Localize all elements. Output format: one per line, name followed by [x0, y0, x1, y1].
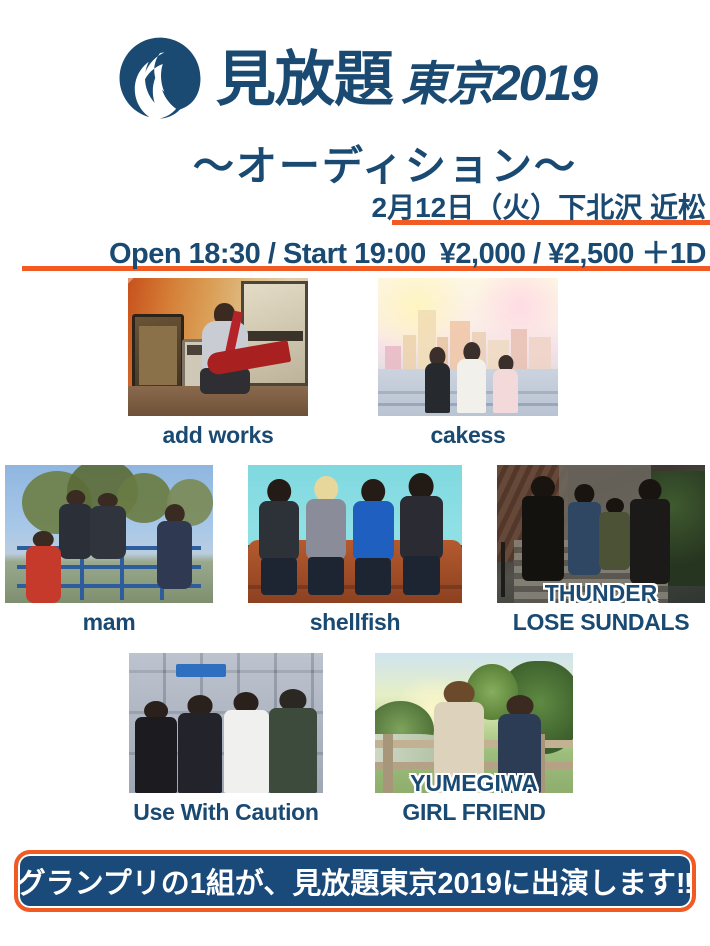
act-name-add-works: add works [128, 423, 308, 447]
act-photo-mam [5, 465, 213, 603]
flyer-header: 見放題東京2019 ～オーディション～ [0, 34, 710, 174]
act-photo-use-with-caution [129, 653, 323, 793]
act-card-use-with-caution[interactable]: Use With Caution [129, 653, 323, 824]
act-photo-cakess [378, 278, 558, 416]
act-photo-yumegiwa-girl-friend: YUMEGIWA [375, 653, 573, 793]
act-overlay-name-thunder: THUNDER [497, 580, 705, 603]
act-name-mam: mam [5, 610, 213, 634]
act-name-shellfish: shellfish [248, 610, 462, 634]
date-venue-text: 2月12日（火）下北沢 近松 [372, 186, 707, 226]
ticket-prices: ¥2,000 / ¥2,500 ＋1D [440, 230, 706, 272]
flyer-page: 見放題東京2019 ～オーディション～ 2月12日（火）下北沢 近松 Open … [0, 0, 710, 946]
act-card-add-works[interactable]: add works [128, 278, 308, 447]
grand-prix-banner-text: グランプリの1組が、見放題東京2019に出演します‼ [17, 860, 694, 902]
times-prices-line: Open 18:30 / Start 19:00¥2,000 / ¥2,500 … [0, 230, 710, 272]
typhoon-swirl-logo-icon [114, 34, 206, 126]
act-photo-thunder-lose-sundals: THUNDER [497, 465, 705, 603]
page-title: 見放題東京2019 [216, 50, 596, 110]
title-year-text: 2019 [493, 55, 596, 111]
act-photo-shellfish [248, 465, 462, 603]
open-start-times: Open 18:30 / Start 19:00 [109, 238, 426, 271]
act-name-lose-sundals: LOSE SUNDALS [497, 610, 705, 634]
act-card-thunder-lose-sundals[interactable]: THUNDER LOSE SUNDALS [497, 465, 705, 634]
act-name-use-with-caution: Use With Caution [129, 800, 323, 824]
act-photo-add-works [128, 278, 308, 416]
act-card-yumegiwa-girl-friend[interactable]: YUMEGIWA GIRL FRIEND [375, 653, 573, 824]
act-name-cakess: cakess [378, 423, 558, 447]
act-card-mam[interactable]: mam [5, 465, 213, 634]
act-name-girl-friend: GIRL FRIEND [375, 800, 573, 824]
event-info: 2月12日（火）下北沢 近松 Open 18:30 / Start 19:00¥… [0, 186, 710, 272]
date-venue-line: 2月12日（火）下北沢 近松 [0, 186, 710, 226]
page-subtitle: ～オーディション～ [0, 132, 710, 192]
title-main-text: 見放題 [216, 46, 393, 113]
act-overlay-name-yumegiwa: YUMEGIWA [375, 770, 573, 793]
logo-title-row: 見放題東京2019 [0, 34, 710, 126]
act-card-shellfish[interactable]: shellfish [248, 465, 462, 634]
grand-prix-banner: グランプリの1組が、見放題東京2019に出演します‼ [14, 850, 696, 912]
act-card-cakess[interactable]: cakess [378, 278, 558, 447]
title-tokyo-text: 東京 [401, 57, 493, 110]
